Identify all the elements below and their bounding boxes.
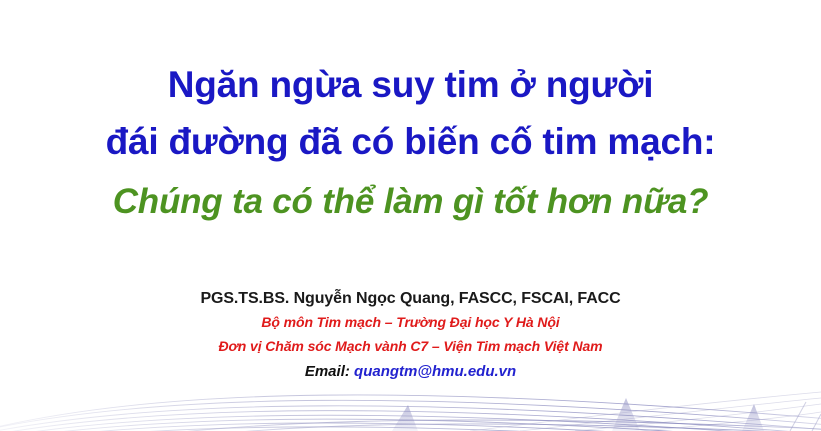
slide-content: Ngăn ngừa suy tim ở người đái đường đã c… — [0, 0, 821, 431]
subtitle-line: Chúng ta có thể làm gì tốt hơn nữa? — [0, 170, 821, 234]
author-block: PGS.TS.BS. Nguyễn Ngọc Quang, FASCC, FSC… — [0, 288, 821, 386]
title-line-2: đái đường đã có biến cố tim mạch: — [0, 113, 821, 170]
presentation-slide: Ngăn ngừa suy tim ở người đái đường đã c… — [0, 0, 821, 431]
title-block: Ngăn ngừa suy tim ở người đái đường đã c… — [0, 56, 821, 234]
affiliation-line-1: Bộ môn Tim mạch – Trường Đại học Y Hà Nộ… — [0, 310, 821, 334]
email-line: Email: quangtm@hmu.edu.vn — [0, 358, 821, 386]
affiliation-line-2: Đơn vị Chăm sóc Mạch vành C7 – Viện Tim … — [0, 334, 821, 358]
author-name: PGS.TS.BS. Nguyễn Ngọc Quang, FASCC, FSC… — [0, 288, 821, 310]
title-line-1: Ngăn ngừa suy tim ở người — [0, 56, 821, 113]
email-address[interactable]: quangtm@hmu.edu.vn — [354, 363, 516, 380]
email-label: Email: — [305, 363, 350, 380]
